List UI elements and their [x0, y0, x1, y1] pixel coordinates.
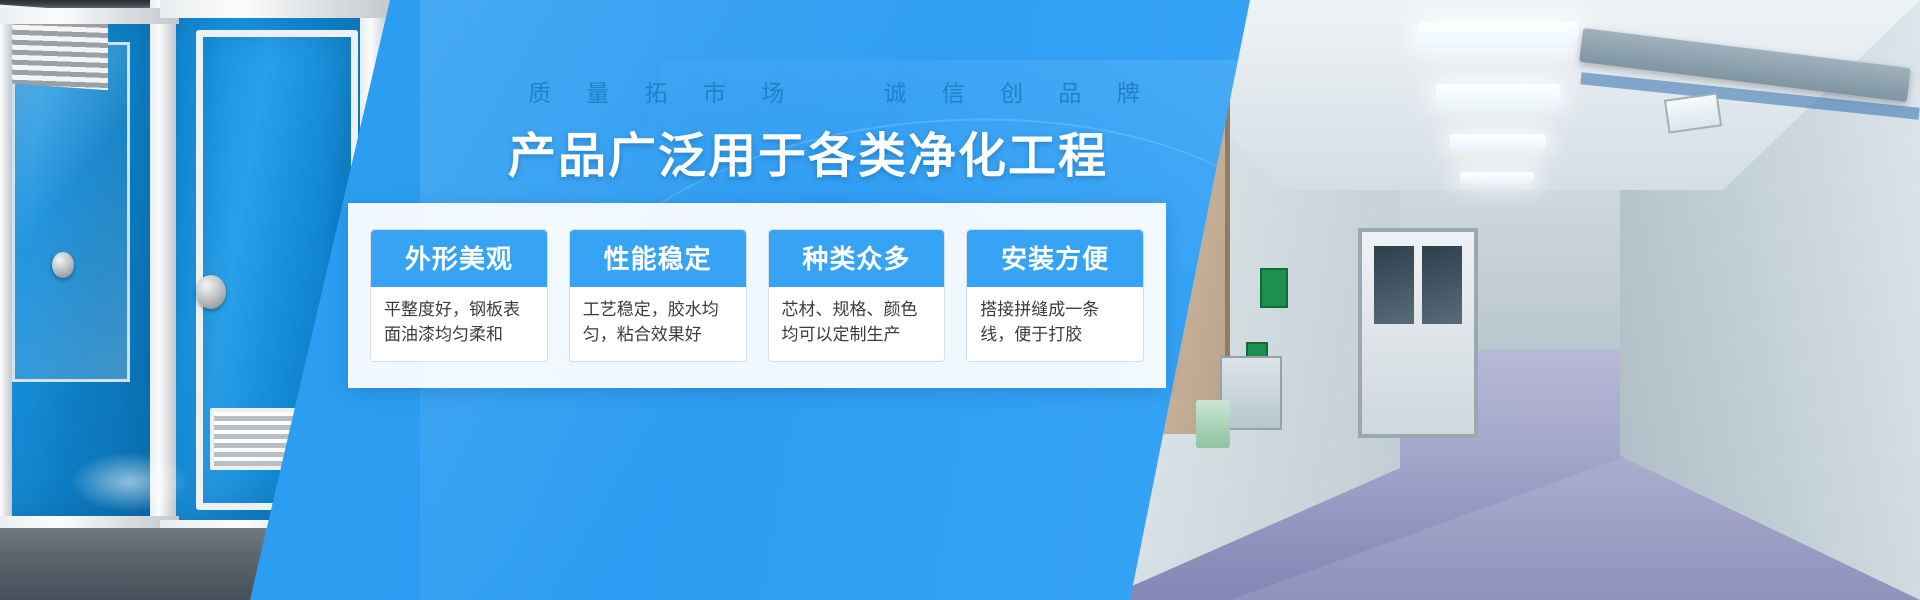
feature-card-panel: 外形美观 平整度好，钢板表面油漆均匀柔和 性能稳定 工艺稳定，胶水均匀，粘合效果… [348, 203, 1166, 388]
feature-card-body: 平整度好，钢板表面油漆均匀柔和 [371, 287, 547, 361]
feature-card[interactable]: 外形美观 平整度好，钢板表面油漆均匀柔和 [370, 229, 548, 362]
banner-tagline: 质 量 拓 市 场 诚 信 创 品 牌 [528, 74, 1154, 108]
feature-card-title: 性能稳定 [570, 230, 746, 287]
promo-banner: 质 量 拓 市 场 诚 信 创 品 牌 产品广泛用于各类净化工程 外形美观 平整… [0, 0, 1920, 600]
feature-card-body: 搭接拼缝成一条线，便于打胶 [967, 287, 1143, 361]
feature-card-title: 安装方便 [967, 230, 1143, 287]
feature-card-body: 芯材、规格、颜色均可以定制生产 [769, 287, 945, 361]
banner-headline: 产品广泛用于各类净化工程 [508, 116, 1108, 186]
feature-card-title: 种类众多 [769, 230, 945, 287]
feature-card[interactable]: 种类众多 芯材、规格、颜色均可以定制生产 [768, 229, 946, 362]
feature-card-title: 外形美观 [371, 230, 547, 287]
feature-card-list: 外形美观 平整度好，钢板表面油漆均匀柔和 性能稳定 工艺稳定，胶水均匀，粘合效果… [348, 203, 1166, 388]
feature-card[interactable]: 性能稳定 工艺稳定，胶水均匀，粘合效果好 [569, 229, 747, 362]
feature-card[interactable]: 安装方便 搭接拼缝成一条线，便于打胶 [966, 229, 1144, 362]
feature-card-body: 工艺稳定，胶水均匀，粘合效果好 [570, 287, 746, 361]
